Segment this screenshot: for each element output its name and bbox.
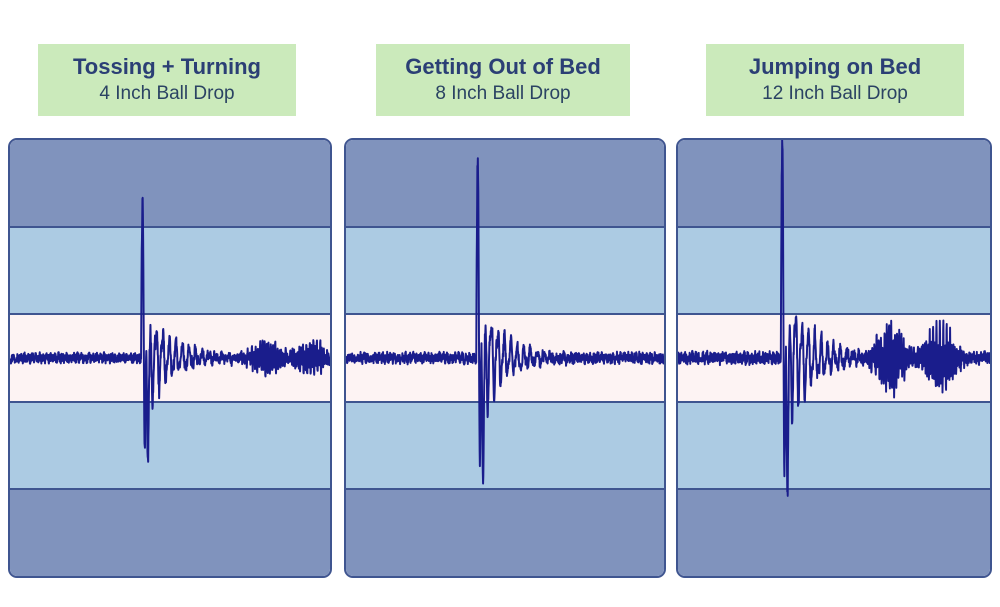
- panel-title-1: Getting Out of Bed: [405, 54, 601, 80]
- panel-subtitle-1: 8 Inch Ball Drop: [435, 82, 570, 106]
- seismograph-panel-2: [676, 138, 992, 578]
- seismograph-trace-1: [10, 140, 330, 576]
- seismograph-trace-2: [346, 140, 664, 576]
- panel-column-0: Tossing + Turning 4 Inch Ball Drop: [2, 0, 332, 607]
- panel-header-badge-1: Getting Out of Bed 8 Inch Ball Drop: [376, 44, 630, 116]
- panel-subtitle-0: 4 Inch Ball Drop: [99, 82, 234, 106]
- panel-header-badge-0: Tossing + Turning 4 Inch Ball Drop: [38, 44, 296, 116]
- panel-column-1: Getting Out of Bed 8 Inch Ball Drop: [344, 0, 674, 607]
- seismograph-panel-1: [344, 138, 666, 578]
- seismograph-panel-0: [8, 138, 332, 578]
- panel-header-badge-2: Jumping on Bed 12 Inch Ball Drop: [706, 44, 964, 116]
- panel-title-0: Tossing + Turning: [73, 54, 261, 80]
- panel-title-2: Jumping on Bed: [749, 54, 921, 80]
- seismograph-trace-3: [678, 140, 990, 576]
- motion-transfer-comparison: Tossing + Turning 4 Inch Ball Drop Getti…: [0, 0, 1000, 607]
- panel-subtitle-2: 12 Inch Ball Drop: [762, 82, 908, 106]
- panel-column-2: Jumping on Bed 12 Inch Ball Drop: [674, 0, 1000, 607]
